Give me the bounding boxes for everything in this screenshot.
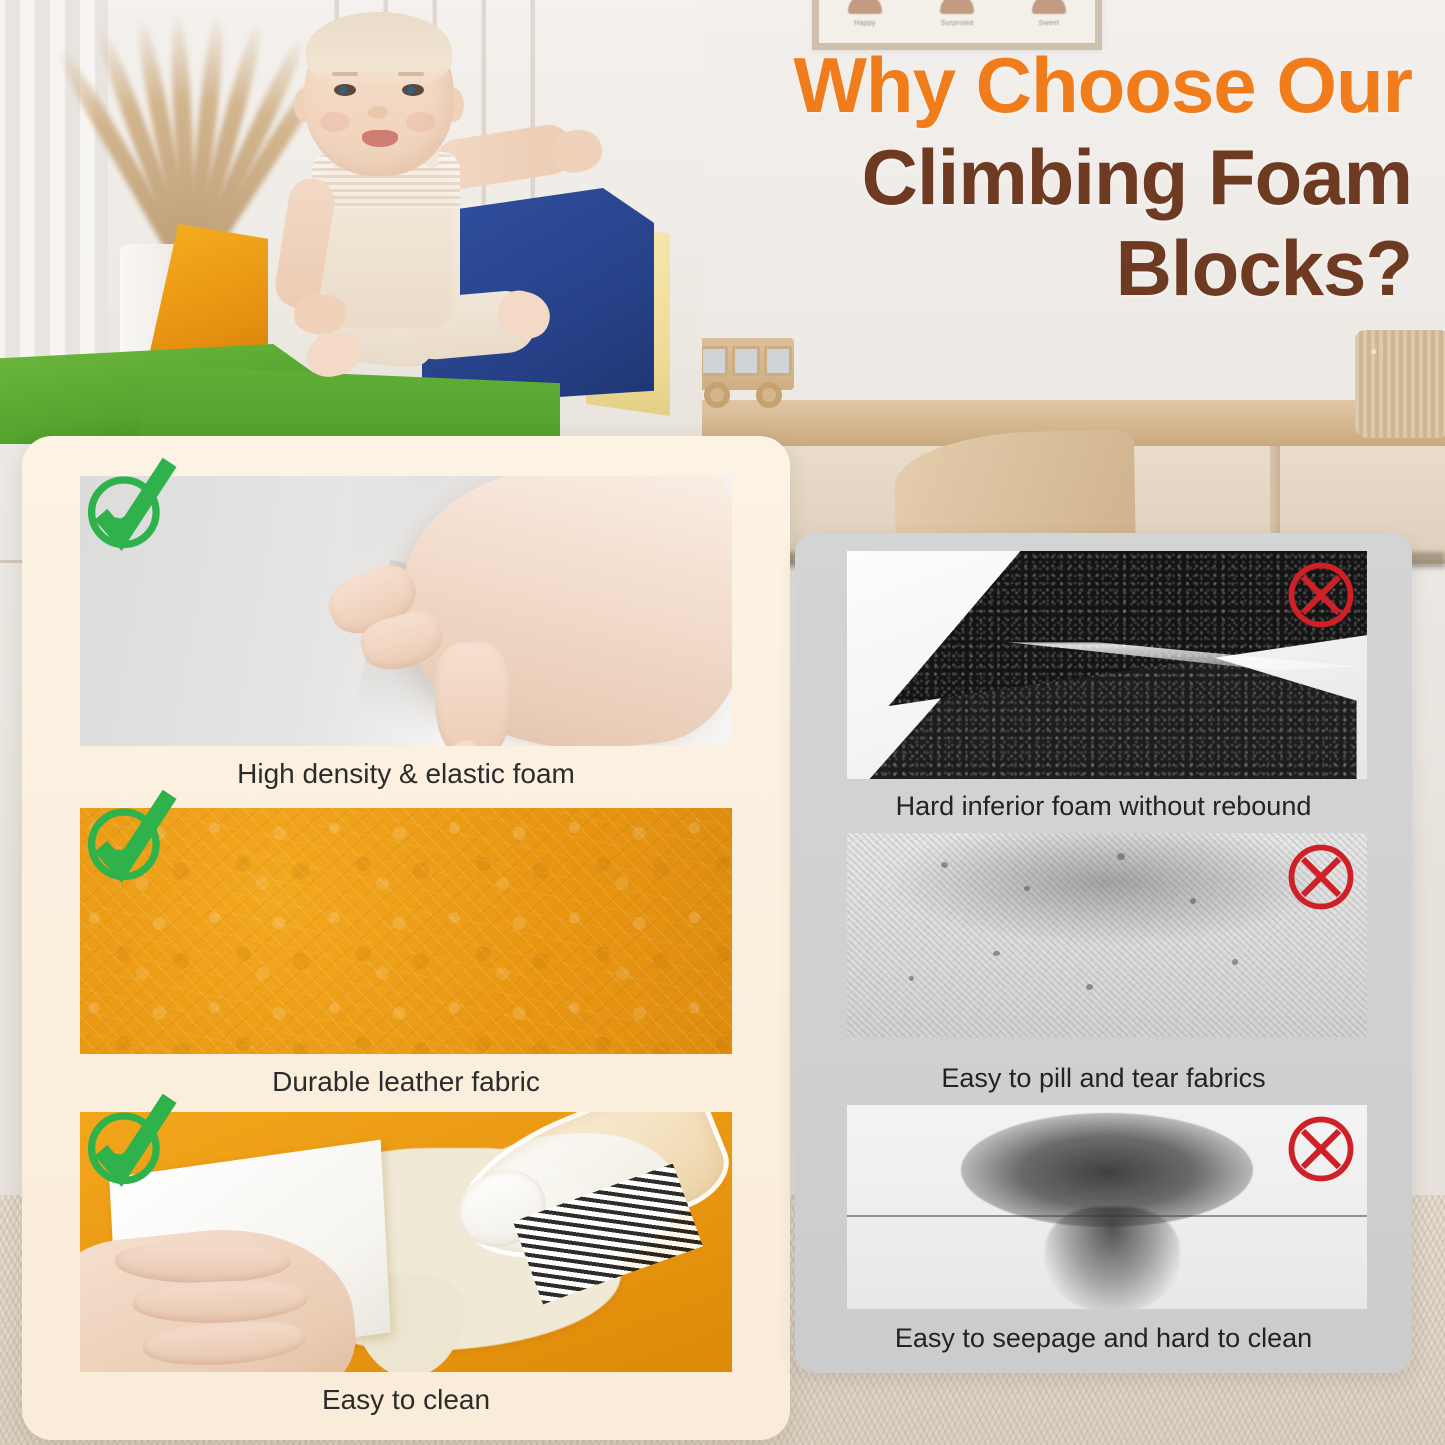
toy-car-wheel (704, 382, 730, 408)
cons-item-2-image (847, 833, 1367, 1037)
black-foam-photo (847, 551, 1367, 779)
pilled-fabric-photo (847, 833, 1367, 1037)
pros-item-2-image (80, 808, 732, 1054)
baby-nose (368, 106, 388, 119)
toy-car-window (700, 346, 728, 376)
toy-car-wheel (756, 382, 782, 408)
headline-line-2: Climbing Foam (700, 138, 1412, 218)
headline-line-3: Blocks? (700, 229, 1412, 309)
baby-mouth (362, 130, 398, 147)
cons-panel: Hard inferior foam without rebound (795, 533, 1412, 1373)
cons-item-1-caption: Hard inferior foam without rebound (795, 791, 1412, 822)
baby-figure (276, 2, 606, 412)
cons-item-3-image (847, 1105, 1367, 1309)
woven-basket (1355, 330, 1445, 438)
poster-face-icon (848, 0, 882, 14)
wooden-toy-car (690, 338, 800, 416)
baby-eyebrow (398, 72, 424, 76)
pilling-area (878, 833, 1336, 947)
poster-item: Happy (837, 0, 893, 27)
poster-face-icon (940, 0, 974, 14)
milk-spill-photo (80, 1112, 732, 1372)
poster-item: Sweet (1021, 0, 1077, 27)
poster-caption: Sweet (1021, 20, 1077, 27)
baby-eye (334, 84, 356, 96)
seepage-drip (1045, 1207, 1180, 1309)
cons-item-2-caption: Easy to pill and tear fabrics (795, 1063, 1412, 1094)
cons-item-3-image-frame (847, 1105, 1367, 1309)
poster-item: Surprised (929, 0, 985, 27)
toy-car-window (764, 346, 792, 376)
baby-cheek (406, 112, 436, 132)
poster-illustrations: Happy Surprised Sweet (819, 0, 1095, 27)
pros-item-1-image-frame (80, 476, 732, 746)
cons-item-2-image-frame (847, 833, 1367, 1037)
poster-caption: Happy (837, 20, 893, 27)
pros-item-2-image-frame (80, 808, 732, 1054)
baby-hair (306, 12, 452, 90)
baby-eye (402, 84, 424, 96)
pros-item-2-caption: Durable leather fabric (22, 1066, 790, 1098)
baby-cheek (320, 112, 350, 132)
headline-line-1: Why Choose Our (700, 46, 1412, 126)
toy-car-window (732, 346, 760, 376)
leather-grain (80, 808, 732, 1054)
cons-item-3-caption: Easy to seepage and hard to clean (795, 1323, 1412, 1354)
pros-panel: High density & elastic foam Durable leat… (22, 436, 790, 1440)
headline: Why Choose Our Climbing Foam Blocks? (700, 46, 1412, 309)
pros-item-1-image (80, 476, 732, 746)
pros-item-3-image-frame (80, 1112, 732, 1372)
pros-item-3-image (80, 1112, 732, 1372)
hero-product-photo (0, 0, 702, 444)
poster-caption: Surprised (929, 20, 985, 27)
baby-left-hand (294, 294, 346, 334)
baby-eyebrow (332, 72, 358, 76)
orange-leather-photo (80, 808, 732, 1054)
pros-item-1-caption: High density & elastic foam (22, 758, 790, 790)
pressing-hand (392, 476, 732, 746)
cons-item-1-image-frame (847, 551, 1367, 779)
poster-face-icon (1032, 0, 1066, 14)
pros-item-3-caption: Easy to clean (22, 1384, 790, 1416)
white-foam-photo (80, 476, 732, 746)
seepage-stain-photo (847, 1105, 1367, 1309)
cons-item-1-image (847, 551, 1367, 779)
infographic-canvas: Happy Surprised Sweet (0, 0, 1445, 1445)
